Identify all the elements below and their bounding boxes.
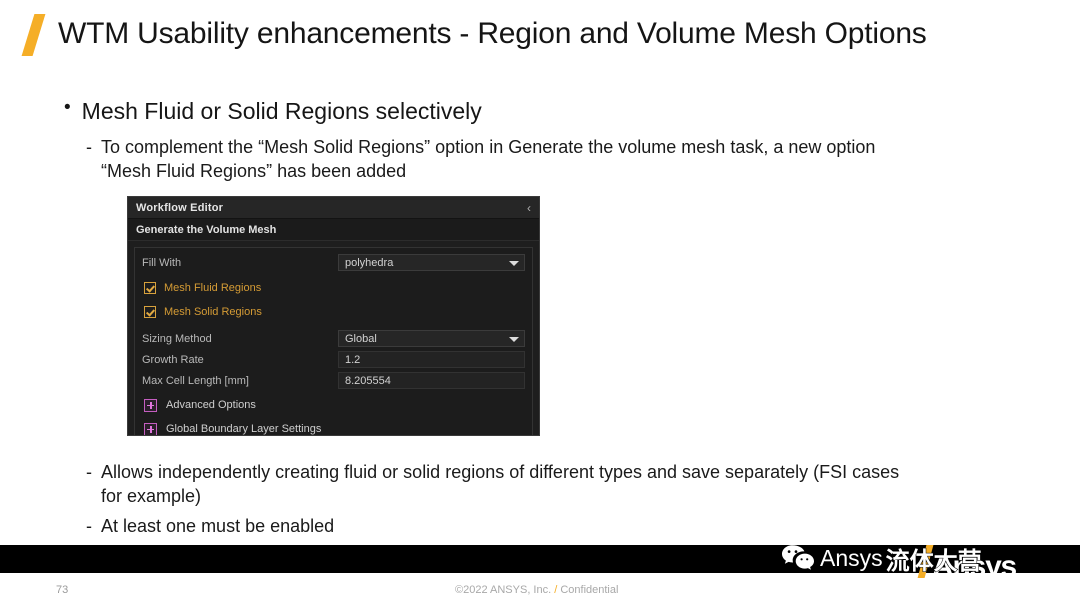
checkbox-row-mesh-fluid-regions[interactable]: Mesh Fluid Regions: [135, 276, 532, 300]
checkbox-label-mesh-fluid-regions: Mesh Fluid Regions: [164, 282, 261, 294]
bullet-level2-allows-line2: for example): [101, 485, 899, 509]
checkbox-row-mesh-solid-regions[interactable]: Mesh Solid Regions: [135, 300, 532, 324]
input-max-cell-length[interactable]: 8.205554: [338, 372, 525, 389]
bullet-level2-complement: - To complement the “Mesh Solid Regions”…: [86, 136, 1016, 184]
bullet-level2-line1: To complement the “Mesh Solid Regions” o…: [101, 136, 875, 160]
dropdown-value-fill-with: polyhedra: [345, 257, 393, 269]
watermark-text-chinese: 流体大营: [886, 541, 982, 576]
input-value-max-cell-length: 8.205554: [345, 375, 391, 387]
workflow-editor-panel[interactable]: Workflow Editor ‹ Generate the Volume Me…: [127, 196, 540, 436]
plus-expand-icon-global-boundary-layer[interactable]: [144, 423, 157, 436]
dash-glyph-icon: -: [86, 461, 92, 485]
plus-expand-icon-advanced-options[interactable]: [144, 399, 157, 412]
checkbox-checked-icon-mesh-fluid-regions[interactable]: [144, 282, 156, 294]
bullet-level2-allows-line1: Allows independently creating fluid or s…: [101, 461, 899, 485]
workflow-editor-body: Fill With polyhedra Mesh Fluid Regions M…: [134, 247, 533, 436]
dash-glyph-icon: -: [86, 136, 92, 160]
dropdown-fill-with[interactable]: polyhedra: [338, 254, 525, 271]
label-max-cell-length: Max Cell Length [mm]: [142, 375, 338, 387]
workflow-editor-title: Workflow Editor: [136, 202, 223, 214]
bullet-level1-text: Mesh Fluid or Solid Regions selectively: [82, 98, 482, 125]
bullet-level1-mesh-regions: • Mesh Fluid or Solid Regions selectivel…: [64, 98, 482, 125]
wechat-watermark: Ansys 流体大营: [781, 542, 982, 574]
watermark-text-ansys: Ansys: [820, 545, 883, 572]
copyright-notice: ©2022 ANSYS, Inc. / Confidential: [455, 584, 618, 596]
bullet-level2-at-least-one-text: At least one must be enabled: [101, 515, 334, 539]
page-number: 73: [56, 584, 68, 596]
task-title: Generate the Volume Mesh: [136, 224, 276, 236]
checkbox-checked-icon-mesh-solid-regions[interactable]: [144, 306, 156, 318]
copyright-suffix: Confidential: [557, 584, 618, 596]
field-row-fill-with: Fill With polyhedra: [135, 252, 532, 273]
label-fill-with: Fill With: [142, 257, 338, 269]
bullet-level2-line2: “Mesh Fluid Regions” has been added: [101, 160, 875, 184]
chevron-down-icon: [509, 261, 519, 266]
task-header: Generate the Volume Mesh: [128, 219, 539, 241]
expander-label-advanced-options: Advanced Options: [166, 399, 256, 411]
field-row-max-cell-length: Max Cell Length [mm] 8.205554: [135, 370, 532, 391]
label-sizing-method: Sizing Method: [142, 333, 338, 345]
input-value-growth-rate: 1.2: [345, 354, 360, 366]
bullet-level2-at-least-one: - At least one must be enabled: [86, 515, 1036, 539]
expander-row-advanced-options[interactable]: Advanced Options: [135, 393, 532, 417]
title-accent-slash-icon: [22, 12, 52, 56]
checkbox-label-mesh-solid-regions: Mesh Solid Regions: [164, 306, 262, 318]
collapse-chevron-icon[interactable]: ‹: [527, 202, 531, 214]
label-growth-rate: Growth Rate: [142, 354, 338, 366]
copyright-prefix: ©2022 ANSYS, Inc.: [455, 584, 554, 596]
wechat-icon: [781, 544, 815, 572]
page-title: WTM Usability enhancements - Region and …: [58, 17, 927, 51]
dropdown-value-sizing-method: Global: [345, 333, 377, 345]
field-row-growth-rate: Growth Rate 1.2: [135, 349, 532, 370]
workflow-editor-titlebar: Workflow Editor ‹: [128, 197, 539, 219]
dropdown-sizing-method[interactable]: Global: [338, 330, 525, 347]
dash-glyph-icon: -: [86, 515, 92, 539]
bullet-level2-allows: - Allows independently creating fluid or…: [86, 461, 1036, 509]
expander-row-global-boundary-layer-settings[interactable]: Global Boundary Layer Settings: [135, 417, 532, 436]
input-growth-rate[interactable]: 1.2: [338, 351, 525, 368]
expander-label-global-boundary-layer-settings: Global Boundary Layer Settings: [166, 423, 321, 435]
field-row-sizing-method: Sizing Method Global: [135, 328, 532, 349]
chevron-down-icon: [509, 337, 519, 342]
slide-title-row: WTM Usability enhancements - Region and …: [0, 8, 1080, 60]
bullet-dot-icon: •: [64, 98, 71, 119]
